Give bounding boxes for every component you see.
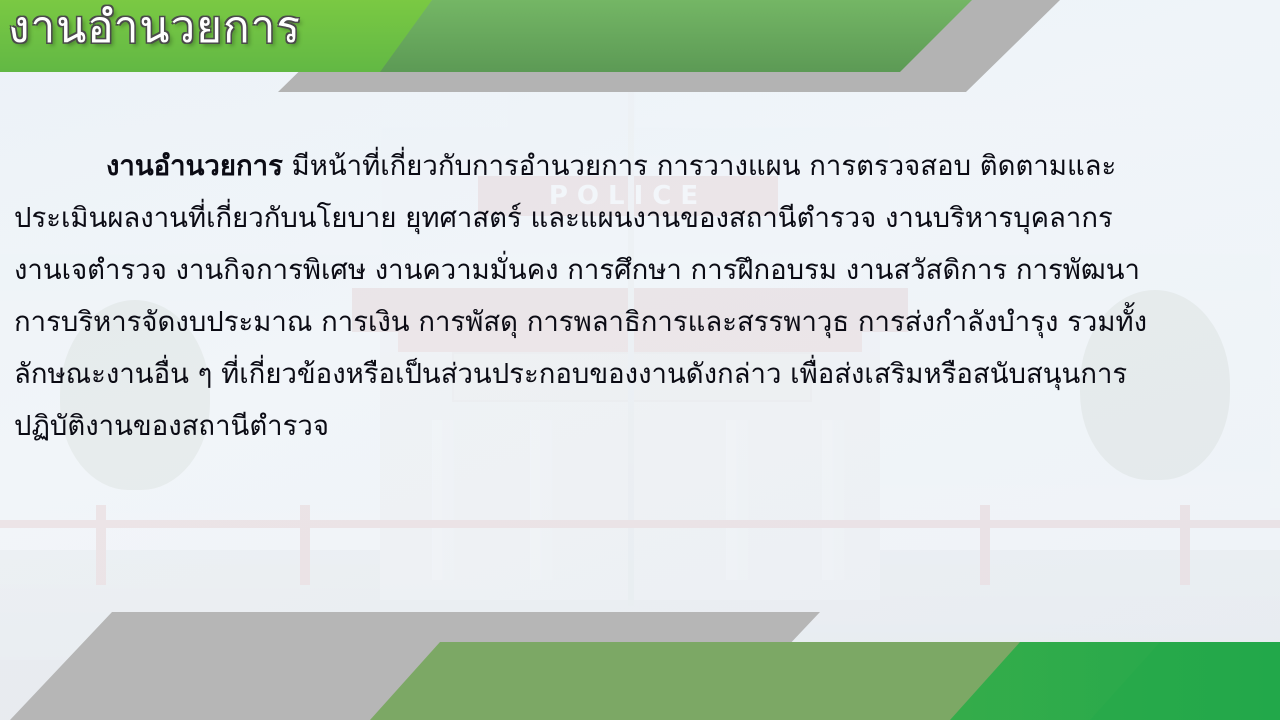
bottom-decoration-banner	[0, 600, 1280, 720]
slide-title: งานอำนวยการ	[8, 0, 301, 62]
bottom-green-overlap-parallelogram	[0, 642, 1280, 720]
bottom-gray-parallelogram	[0, 612, 1280, 720]
watermark-fence-post-4	[1180, 505, 1190, 585]
bottom-green-edge	[0, 642, 1280, 720]
body-line-6: ปฏิบัติงานของสถานีตำรวจ	[14, 400, 1252, 452]
watermark-road	[0, 660, 1280, 720]
body-line-1-rest: มีหน้าที่เกี่ยวกับการอำนวยการ การวางแผน …	[283, 150, 1116, 182]
body-lead-term: งานอำนวยการ	[106, 150, 283, 182]
slide-body-text: งานอำนวยการ มีหน้าที่เกี่ยวกับการอำนวยกา…	[14, 140, 1252, 452]
body-line-5: ลักษณะงานอื่น ๆ ที่เกี่ยวข้องหรือเป็นส่ว…	[14, 348, 1252, 400]
watermark-fence-post-3	[980, 505, 990, 585]
body-line-3: งานเจตำรวจ งานกิจการพิเศษ งานความมั่นคง …	[14, 244, 1252, 296]
watermark-ground	[0, 550, 1280, 720]
watermark-fence-post-1	[96, 505, 106, 585]
body-line-1: งานอำนวยการ มีหน้าที่เกี่ยวกับการอำนวยกา…	[14, 140, 1252, 192]
bottom-green-band	[0, 642, 1280, 720]
watermark-fence-rail	[0, 520, 1280, 528]
body-line-2: ประเมินผลงานที่เกี่ยวกับนโยบาย ยุทศาสตร์…	[14, 192, 1252, 244]
presentation-slide: POLICE งานอำนวยการ งานอำนวยการ มีหน้าที่…	[0, 0, 1280, 720]
watermark-fence-post-2	[300, 505, 310, 585]
body-line-4: การบริหารจัดงบประมาณ การเงิน การพัสดุ กา…	[14, 296, 1252, 348]
